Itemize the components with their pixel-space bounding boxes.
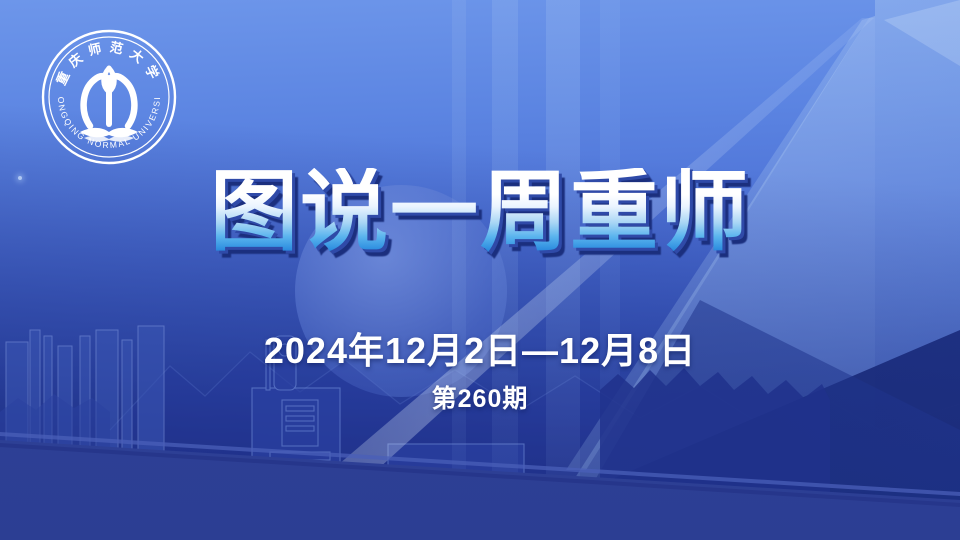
vertical-light-column-3 xyxy=(546,0,580,540)
date-range-text: 2024年12月2日—12月8日 xyxy=(0,322,960,374)
page-title: 图说一周重师 图说一周重师 图说一周重师 xyxy=(0,168,960,256)
university-seal-icon: 重庆师范大学 CHONGQING NORMAL UNIVERSITY xyxy=(40,28,178,166)
vertical-light-column-2 xyxy=(492,0,518,540)
issue-number-text: 第260期 xyxy=(0,379,960,415)
page-title-text: 图说一周重师 xyxy=(210,168,750,256)
university-logo: 重庆师范大学 CHONGQING NORMAL UNIVERSITY xyxy=(40,28,178,166)
slide-canvas: 重庆师范大学 CHONGQING NORMAL UNIVERSITY 图说一周重… xyxy=(0,0,960,540)
vertical-light-column-1 xyxy=(452,0,466,540)
